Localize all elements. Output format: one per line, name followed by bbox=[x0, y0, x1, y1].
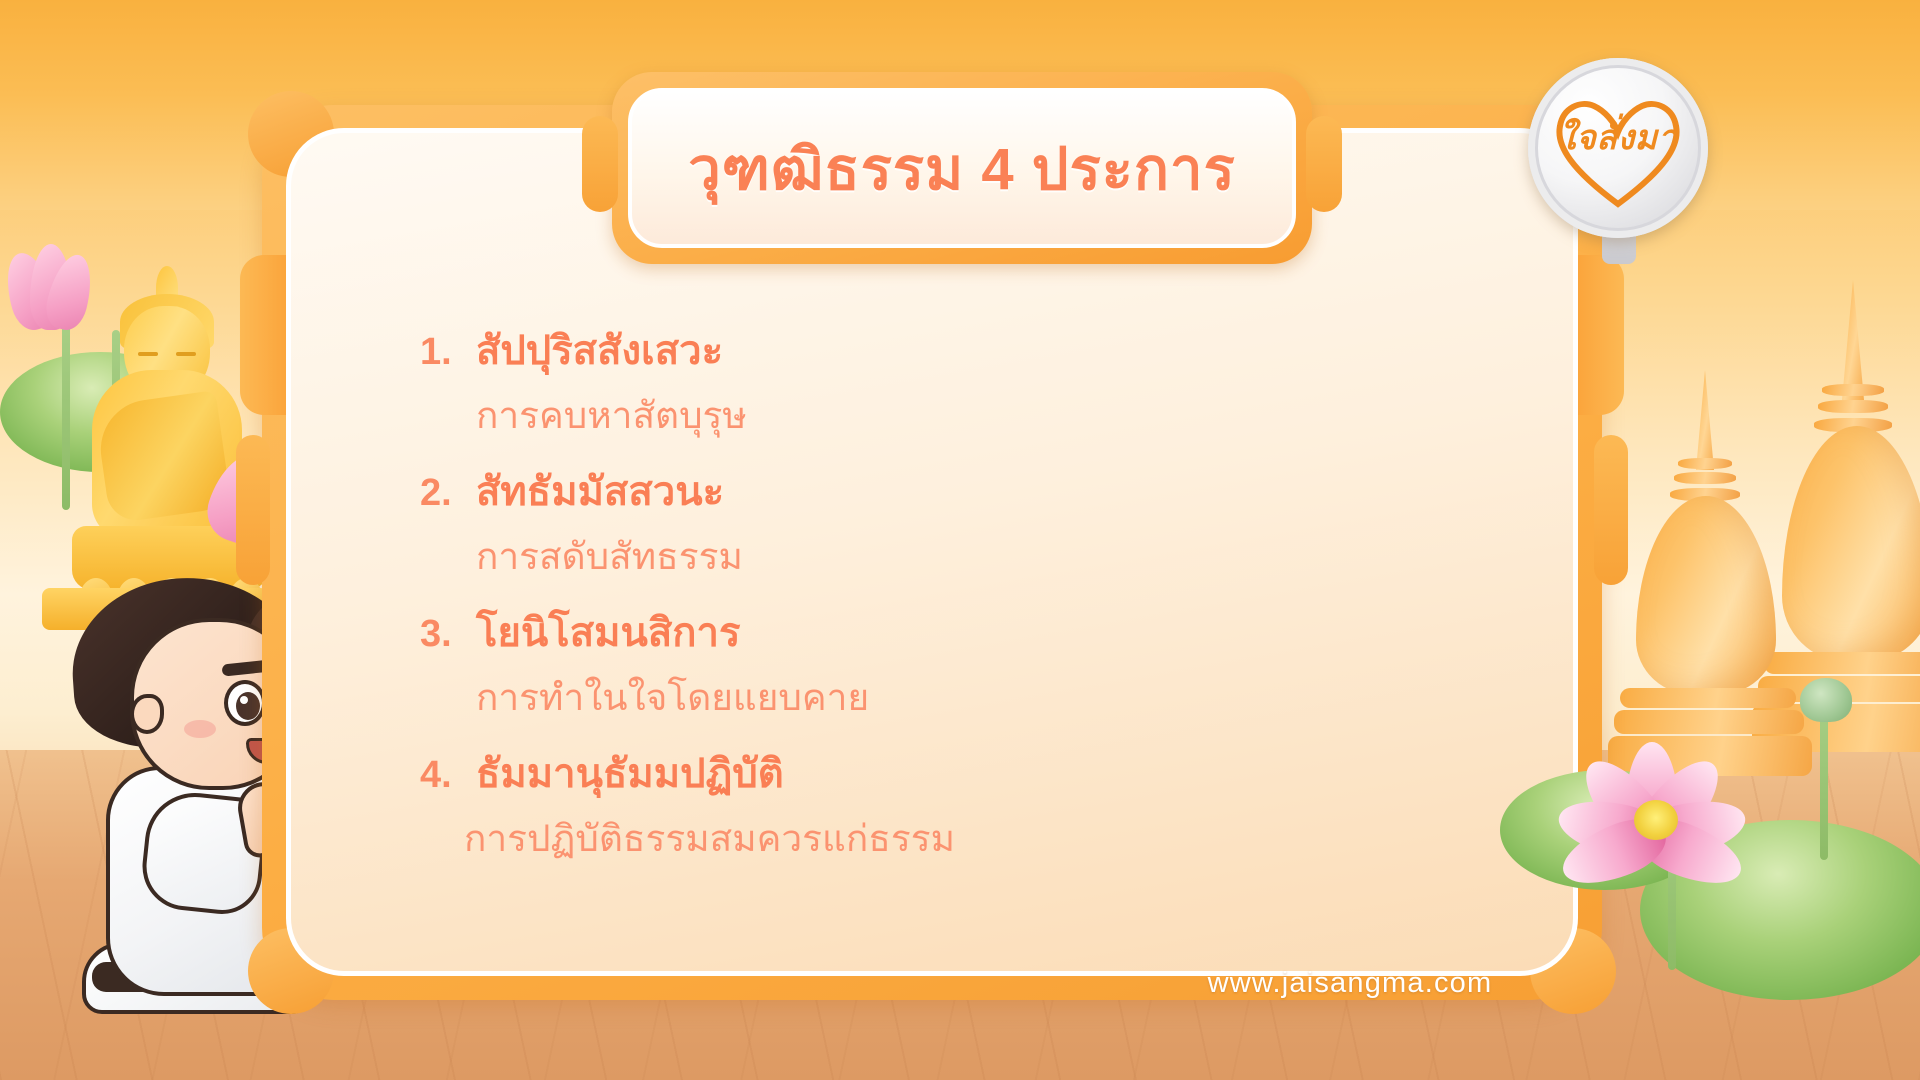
poster-canvas: วุฑฒิธรรม 4 ประการ ใจสั่งมา 1. สัปปุริสส… bbox=[0, 0, 1920, 1080]
logo-badge[interactable]: ใจสั่งมา bbox=[1528, 58, 1708, 238]
list-item: 1. สัปปุริสสังเสวะ การคบหาสัตบุรุษ bbox=[420, 318, 1500, 445]
list-item-number: 2. bbox=[420, 472, 476, 515]
lotus-seed-pod-illustration bbox=[1800, 678, 1852, 722]
list-item-number: 1. bbox=[420, 331, 476, 374]
list-item-term: ธัมมานุธัมมปฏิบัติ bbox=[476, 741, 784, 805]
list-item-term: สัทธัมมัสสวนะ bbox=[476, 459, 724, 523]
website-url[interactable]: www.jaisangma.com bbox=[1208, 967, 1493, 1000]
principles-list: 1. สัปปุริสสังเสวะ การคบหาสัตบุรุษ 2. สั… bbox=[420, 318, 1500, 882]
logo-wordmark: ใจสั่งมา bbox=[1528, 110, 1708, 164]
list-item: 4. ธัมมานุธัมมปฏิบัติ การปฏิบัติธรรมสมคว… bbox=[420, 741, 1500, 868]
lotus-stem bbox=[1820, 700, 1828, 860]
list-item: 3. โยนิโสมนสิการ การทำในใจโดยแยบคาย bbox=[420, 600, 1500, 727]
list-item-term: สัปปุริสสังเสวะ bbox=[476, 318, 723, 382]
list-item-term: โยนิโสมนสิการ bbox=[476, 600, 740, 664]
title-ribbon: วุฑฒิธรรม 4 ประการ bbox=[628, 88, 1296, 248]
website-url-bar: www.jaisangma.com bbox=[1120, 958, 1580, 1008]
list-item-number: 3. bbox=[420, 613, 476, 656]
list-item-meaning: การทำในใจโดยแยบคาย bbox=[476, 668, 1500, 727]
list-item-meaning: การสดับสัทธรรม bbox=[476, 527, 1500, 586]
list-item-number: 4. bbox=[420, 754, 476, 797]
page-title: วุฑฒิธรรม 4 ประการ bbox=[688, 122, 1236, 215]
list-item-meaning: การคบหาสัตบุรุษ bbox=[476, 386, 1500, 445]
pink-lotus-flower-illustration bbox=[1530, 690, 1790, 920]
list-item: 2. สัทธัมมัสสวนะ การสดับสัทธรรม bbox=[420, 459, 1500, 586]
list-item-meaning: การปฏิบัติธรรมสมควรแก่ธรรม bbox=[464, 809, 1500, 868]
